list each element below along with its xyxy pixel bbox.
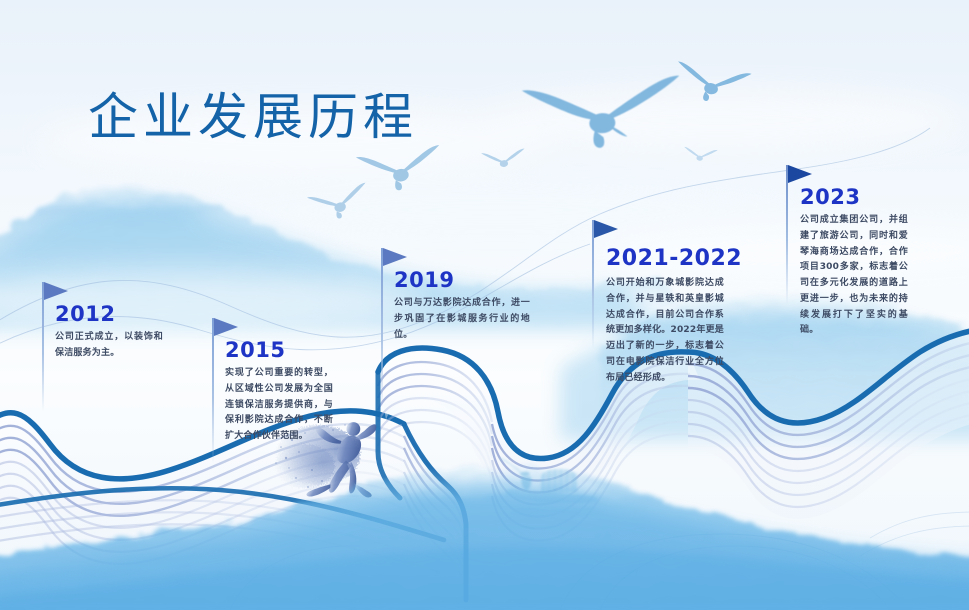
bird-icon [522,75,684,152]
milestone-year: 2021-2022 [606,246,742,271]
flag-pole [592,220,594,348]
milestone-body: 实现了公司重要的转型，从区域性公司发展为全国连锁保洁服务提供商，与保利影院达成合… [225,366,333,445]
flag-icon [214,318,238,336]
timeline-poster: 企业发展历程 2012 公司正式成立，以装饰和保洁服务为主。 2015 实现了公… [0,0,969,610]
flag-icon [788,165,812,183]
milestone-year: 2023 [800,185,860,209]
flag-pole [42,282,44,412]
ribbon-right-segment [688,328,969,519]
fisherman-boat-icon [500,458,602,517]
bird-icon [356,145,445,196]
flag-icon [594,220,618,238]
milestone-year: 2019 [394,268,454,292]
flag-icon [44,282,68,300]
milestone-year: 2012 [55,302,115,326]
bird-icon [481,149,526,170]
bird-icon [683,147,718,163]
flag-pole [212,318,214,463]
flag-pole [381,248,383,408]
ribbon-left-segment [0,411,404,585]
milestone-body: 公司与万达影院达成合作，进一步巩固了在影城服务行业的地位。 [394,296,530,343]
milestone-body: 公司成立集团公司，并组建了旅游公司，同时和爱琴海商场达成合作，合作项目300多家… [800,213,908,339]
milestone-body: 公司开始和万象城影院达成合作，并与星轶和英皇影城达成合作，目前公司合作系统更加多… [606,276,724,386]
flag-pole [786,165,788,305]
ribbon-lower-left [0,488,444,572]
milestone-body: 公司正式成立，以装饰和保洁服务为主。 [55,330,163,362]
bird-icon [307,183,373,225]
flag-icon [383,248,407,266]
page-title: 企业发展历程 [88,92,418,142]
bird-icon [672,61,751,108]
milestone-year: 2015 [225,338,285,362]
